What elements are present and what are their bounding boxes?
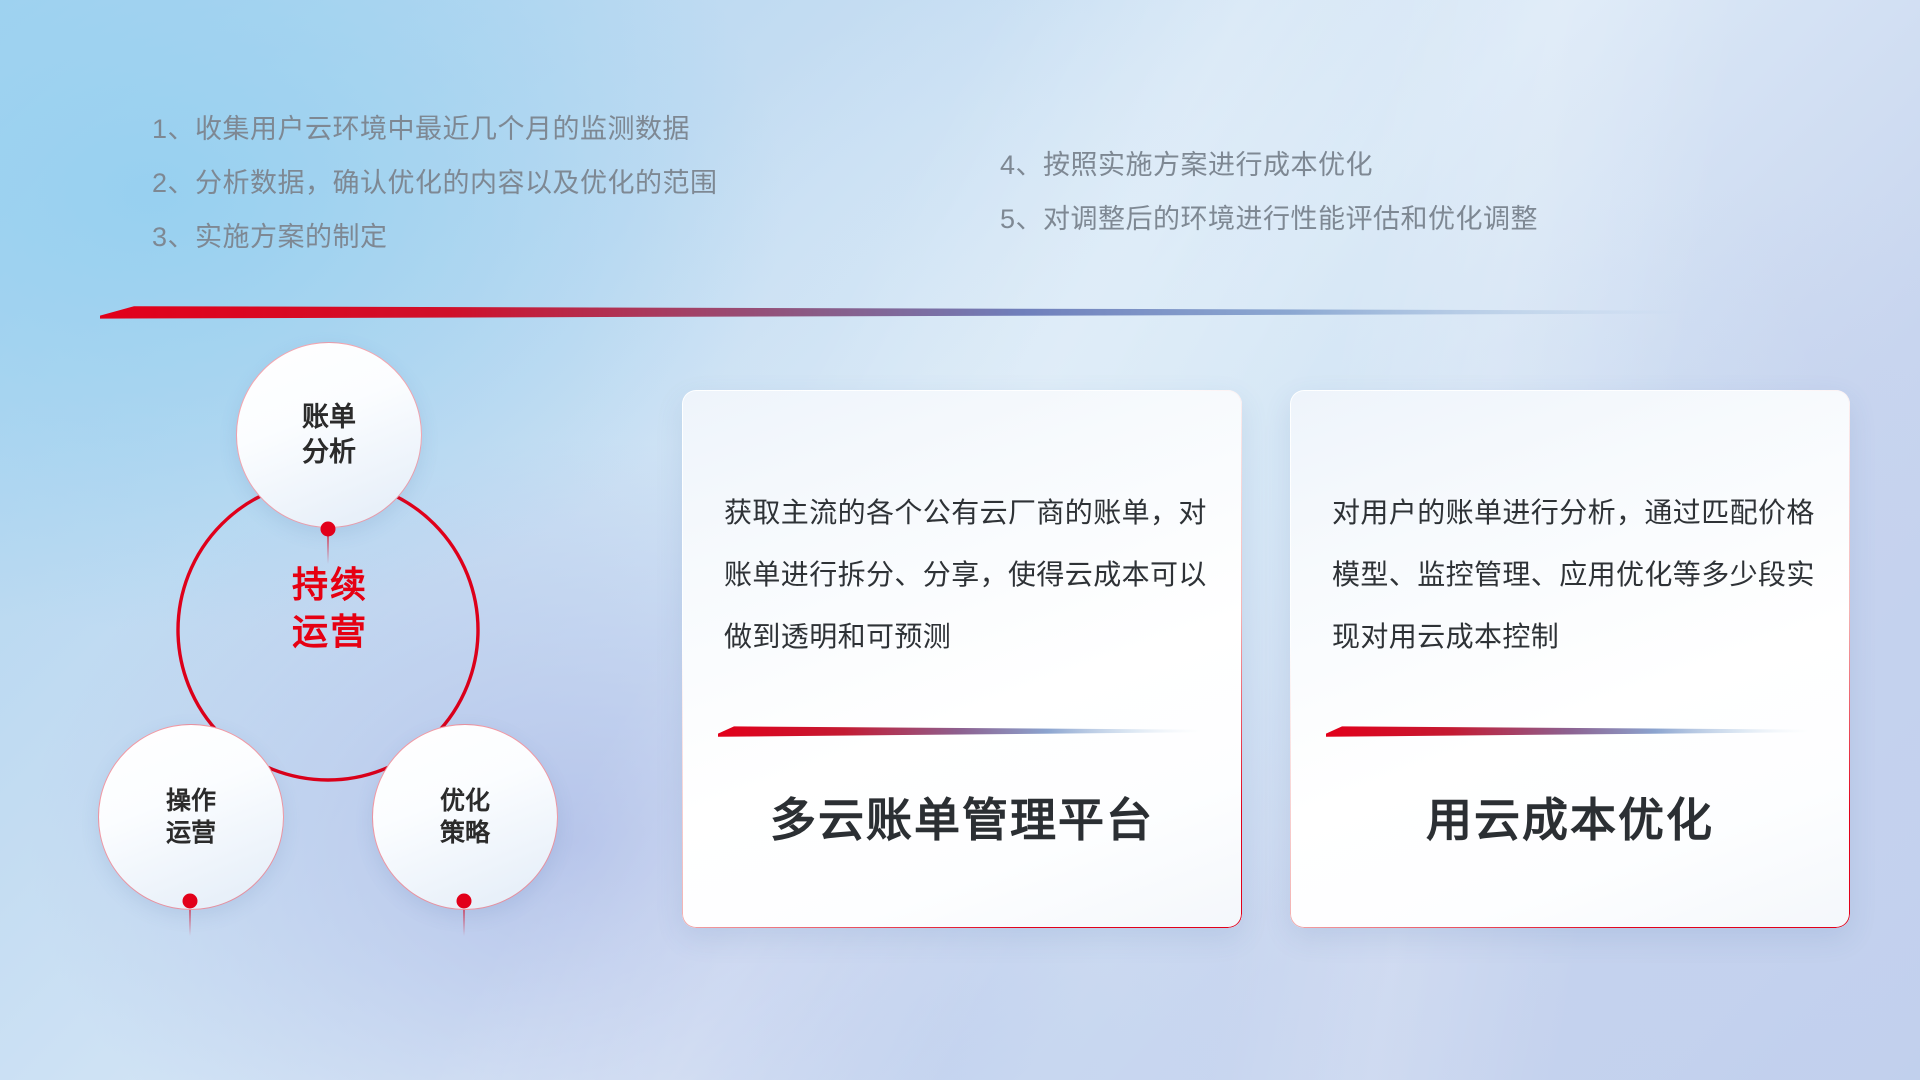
node-label-line1: 操作 (166, 785, 216, 817)
feature-card-multi-cloud-bill-platform[interactable]: 获取主流的各个公有云厂商的账单，对账单进行拆分、分享，使得云成本可以做到透明和可… (682, 390, 1242, 928)
diagram-node-ops-operations[interactable]: 操作 运营 (98, 724, 284, 910)
steps-list-left: 1、收集用户云环境中最近几个月的监测数据 2、分析数据，确认优化的内容以及优化的… (152, 116, 718, 278)
slide-canvas: 1、收集用户云环境中最近几个月的监测数据 2、分析数据，确认优化的内容以及优化的… (0, 0, 1920, 1080)
stem-top (327, 530, 329, 564)
center-label-line1: 持续 (230, 562, 430, 609)
card-divider (1326, 724, 1810, 740)
step-item-2: 2、分析数据，确认优化的内容以及优化的范围 (152, 170, 718, 197)
step-item-4: 4、按照实施方案进行成本优化 (1000, 152, 1538, 179)
card-divider (718, 724, 1202, 740)
diagram-node-bill-analysis[interactable]: 账单 分析 (236, 342, 422, 528)
feature-card-cloud-cost-optimization[interactable]: 对用户的账单进行分析，通过匹配价格模型、监控管理、应用优化等多少段实现对用云成本… (1290, 390, 1850, 928)
node-label-line2: 分析 (302, 435, 356, 470)
node-label-line1: 优化 (440, 785, 490, 817)
continuous-operations-diagram: 账单 分析 操作 运营 优化 策略 持续 运营 (90, 340, 670, 960)
card-description: 获取主流的各个公有云厂商的账单，对账单进行拆分、分享，使得云成本可以做到透明和可… (724, 482, 1212, 668)
card-title: 多云账单管理平台 (682, 784, 1242, 850)
card-description: 对用户的账单进行分析，通过匹配价格模型、监控管理、应用优化等多少段实现对用云成本… (1332, 482, 1820, 668)
center-label-line2: 运营 (230, 609, 430, 656)
node-label-line2: 运营 (166, 817, 216, 849)
diagram-node-opt-strategy[interactable]: 优化 策略 (372, 724, 558, 910)
step-item-1: 1、收集用户云环境中最近几个月的监测数据 (152, 116, 718, 143)
steps-list-right: 4、按照实施方案进行成本优化 5、对调整后的环境进行性能评估和优化调整 (1000, 152, 1538, 260)
diagram-center-label: 持续 运营 (230, 562, 430, 656)
section-divider (100, 302, 1690, 324)
step-item-3: 3、实施方案的制定 (152, 224, 718, 251)
node-label-line1: 账单 (302, 400, 356, 435)
step-item-5: 5、对调整后的环境进行性能评估和优化调整 (1000, 206, 1538, 233)
card-title: 用云成本优化 (1290, 784, 1850, 850)
node-label-line2: 策略 (440, 817, 490, 849)
